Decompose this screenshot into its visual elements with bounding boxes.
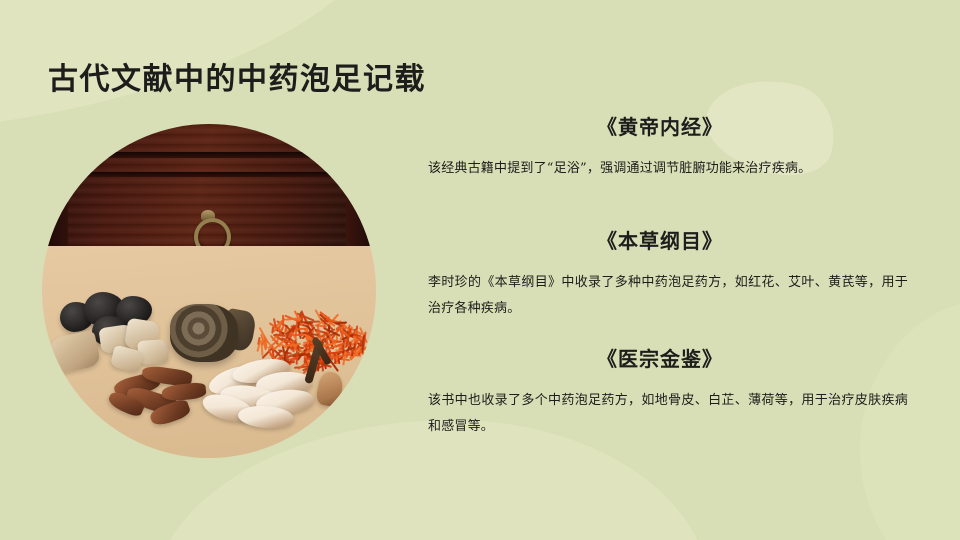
cabinet-right-edge <box>346 158 376 246</box>
section-body: 该书中也收录了多个中药泡足药方，如地骨皮、白芷、薄荷等，用于治疗皮肤疾病和感冒等… <box>412 388 908 440</box>
section-heading: 《黄帝内经》 <box>412 112 908 142</box>
cabinet-panel-line <box>68 172 354 177</box>
herb-white-chunk <box>137 339 169 365</box>
herb-photo-image <box>42 124 376 458</box>
section-yizong-jinjian: 《医宗金鉴》 该书中也收录了多个中药泡足药方，如地骨皮、白芷、薄荷等，用于治疗皮… <box>412 344 908 440</box>
herb-bark-roll <box>170 304 238 362</box>
cabinet-left-edge <box>42 158 68 246</box>
section-heading: 《本草纲目》 <box>412 226 908 256</box>
page-title: 古代文献中的中药泡足记载 <box>48 61 426 99</box>
section-body: 该经典古籍中提到了“足浴”，强调通过调节脏腑功能来治疗疾病。 <box>412 156 908 182</box>
slide-canvas: 古代文献中的中药泡足记载 <box>0 0 960 540</box>
section-heading: 《医宗金鉴》 <box>412 344 908 374</box>
herb-photo <box>42 124 376 458</box>
section-bencao-gangmu: 《本草纲目》 李时珍的《本草纲目》中收录了多种中药泡足药方，如红花、艾叶、黄芪等… <box>412 226 908 322</box>
section-huangdi-neijing: 《黄帝内经》 该经典古籍中提到了“足浴”，强调通过调节脏腑功能来治疗疾病。 <box>412 112 908 182</box>
content-column: 《黄帝内经》 该经典古籍中提到了“足浴”，强调通过调节脏腑功能来治疗疾病。 《本… <box>412 112 908 440</box>
cabinet-panel-line <box>68 152 354 158</box>
section-body: 李时珍的《本草纲目》中收录了多种中药泡足药方，如红花、艾叶、黄芪等，用于治疗各种… <box>412 270 908 322</box>
